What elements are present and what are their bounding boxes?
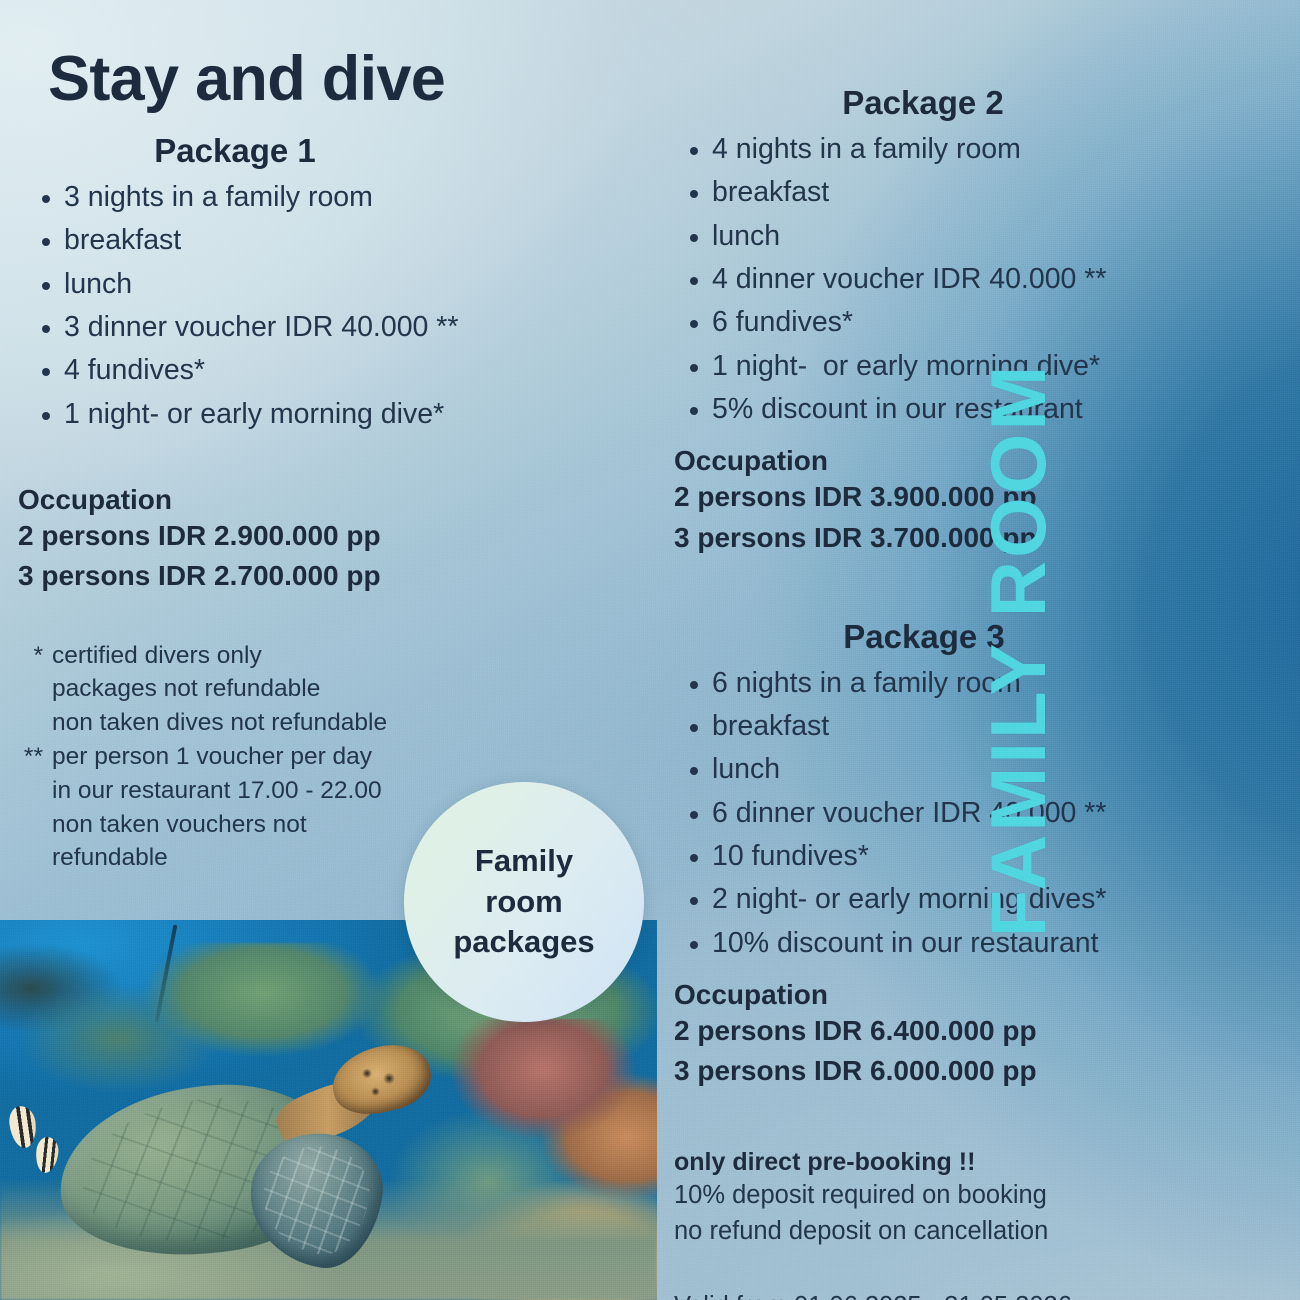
- footnote-mark: [10, 808, 52, 842]
- badge-line: packages: [453, 922, 594, 963]
- booking-terms-line: 10% deposit required on booking: [674, 1177, 1180, 1214]
- family-room-side-label: FAMILY ROOM: [973, 363, 1064, 938]
- list-item: 10% discount in our restaurant: [668, 922, 1180, 965]
- validity-period: Valid from 01.06.2025 - 31.05.2026: [668, 1250, 1180, 1300]
- badge-line: Family: [475, 841, 573, 882]
- package-2-heading: Package 2: [668, 0, 1180, 122]
- occupation-price: 3 persons IDR 6.000.000 pp: [674, 1051, 1180, 1091]
- list-item: breakfast: [668, 705, 1180, 748]
- footnote-row: packages not refundable: [10, 672, 660, 706]
- footnote-mark: [10, 774, 52, 808]
- footnote-text: non taken dives not refundable: [52, 706, 387, 740]
- list-item: 6 dinner voucher IDR 40.000 **: [668, 792, 1180, 835]
- footnote-mark: **: [10, 740, 52, 774]
- badge-line: room: [485, 882, 563, 923]
- package-3-heading: Package 3: [668, 558, 1180, 656]
- occupation-price: 2 persons IDR 3.900.000 pp: [674, 477, 1180, 517]
- package-3-feature-list: 6 nights in a family room breakfast lunc…: [668, 662, 1180, 965]
- footnote-text: non taken vouchers not: [52, 808, 307, 842]
- list-item: 5% discount in our restaurant: [668, 388, 1180, 431]
- booking-terms-headline: only direct pre-booking !!: [674, 1148, 1180, 1177]
- list-item: 4 dinner voucher IDR 40.000 **: [668, 258, 1180, 301]
- occupation-price: 3 persons IDR 3.700.000 pp: [674, 518, 1180, 558]
- list-item: 3 dinner voucher IDR 40.000 **: [20, 306, 660, 349]
- list-item: breakfast: [668, 171, 1180, 214]
- footnote-row: non taken dives not refundable: [10, 706, 660, 740]
- occupation-price: 2 persons IDR 2.900.000 pp: [18, 516, 660, 556]
- list-item: lunch: [20, 263, 660, 306]
- page-title: Stay and dive: [0, 0, 660, 112]
- package-2-occupation: Occupation 2 persons IDR 3.900.000 pp 3 …: [668, 431, 1180, 558]
- right-column: Package 2 4 nights in a family room brea…: [668, 0, 1180, 1300]
- list-item: 1 night- or early morning dive*: [20, 393, 660, 436]
- list-item: lunch: [668, 748, 1180, 791]
- list-item: 3 nights in a family room: [20, 176, 660, 219]
- package-1-occupation: Occupation 2 persons IDR 2.900.000 pp 3 …: [0, 436, 660, 597]
- footnote-text: in our restaurant 17.00 - 22.00: [52, 774, 382, 808]
- footnote-text: per person 1 voucher per day: [52, 740, 372, 774]
- family-room-packages-badge: Family room packages: [404, 782, 644, 1022]
- package-1-heading: Package 1: [0, 112, 660, 170]
- footnote-text: certified divers only: [52, 639, 262, 673]
- footnote-mark: *: [10, 639, 52, 673]
- list-item: 6 nights in a family room: [668, 662, 1180, 705]
- occupation-title: Occupation: [18, 484, 660, 516]
- footnote-text: refundable: [52, 841, 168, 875]
- list-item: 4 nights in a family room: [668, 128, 1180, 171]
- list-item: 10 fundives*: [668, 835, 1180, 878]
- booking-terms-line: no refund deposit on cancellation: [674, 1213, 1180, 1250]
- occupation-price: 2 persons IDR 6.400.000 pp: [674, 1011, 1180, 1051]
- occupation-title: Occupation: [674, 979, 1180, 1011]
- list-item: lunch: [668, 215, 1180, 258]
- poster-canvas: Stay and dive Package 1 3 nights in a fa…: [0, 0, 1300, 1300]
- footnote-mark: [10, 706, 52, 740]
- left-column: Stay and dive Package 1 3 nights in a fa…: [0, 0, 660, 875]
- occupation-price: 3 persons IDR 2.700.000 pp: [18, 556, 660, 596]
- package-3-occupation: Occupation 2 persons IDR 6.400.000 pp 3 …: [668, 965, 1180, 1092]
- list-item: 6 fundives*: [668, 301, 1180, 344]
- list-item: 4 fundives*: [20, 349, 660, 392]
- package-2-feature-list: 4 nights in a family room breakfast lunc…: [668, 128, 1180, 431]
- list-item: 1 night- or early morning dive*: [668, 345, 1180, 388]
- footnote-mark: [10, 841, 52, 875]
- list-item: 2 night- or early morning dives*: [668, 878, 1180, 921]
- footnote-mark: [10, 672, 52, 706]
- footnote-row: * certified divers only: [10, 639, 660, 673]
- package-1-feature-list: 3 nights in a family room breakfast lunc…: [0, 176, 660, 436]
- booking-terms-block: only direct pre-booking !! 10% deposit r…: [668, 1092, 1180, 1250]
- footnote-row: ** per person 1 voucher per day: [10, 740, 660, 774]
- footnote-text: packages not refundable: [52, 672, 320, 706]
- list-item: breakfast: [20, 219, 660, 262]
- occupation-title: Occupation: [674, 445, 1180, 477]
